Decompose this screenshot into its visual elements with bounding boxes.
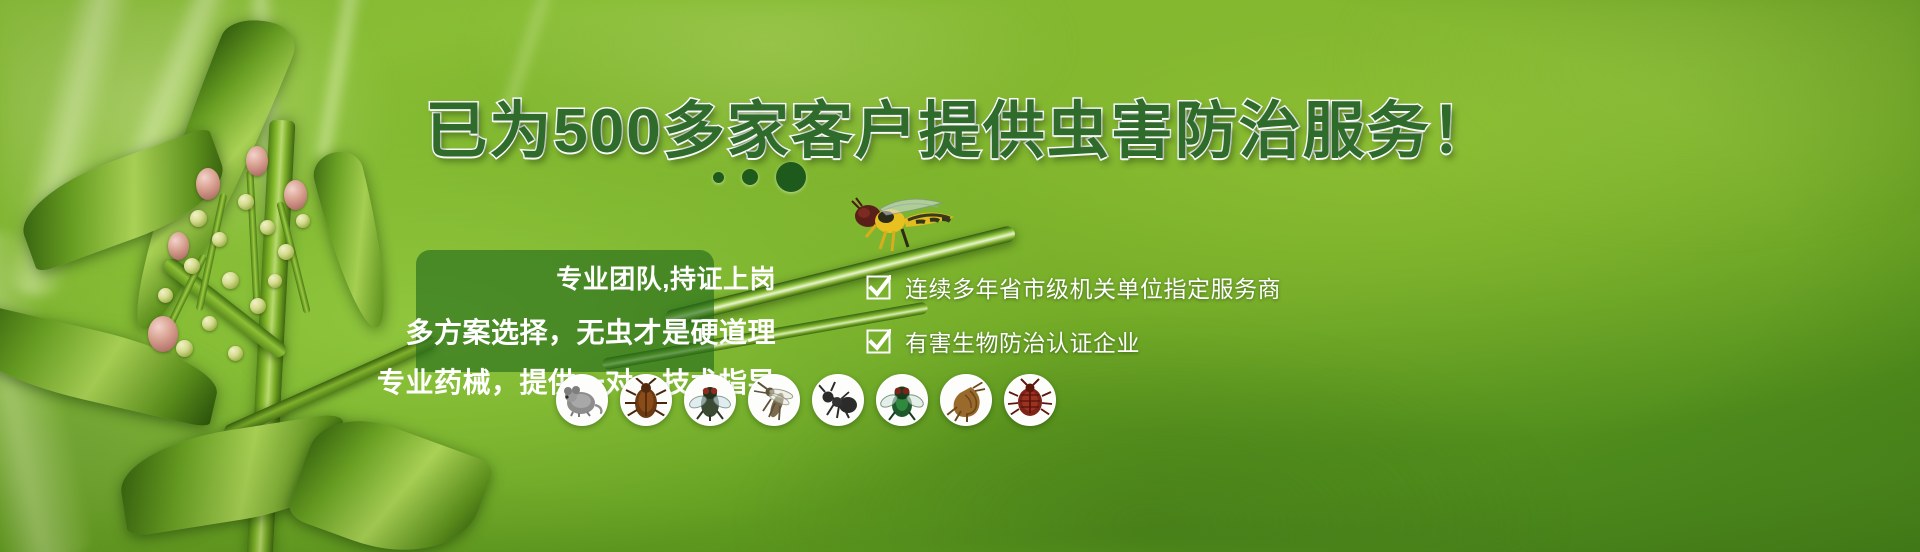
checkbox-checked-icon <box>866 329 891 354</box>
housefly-icon[interactable] <box>684 374 736 426</box>
page-title: 已为500多家客户提供虫害防治服务！ <box>0 80 1920 170</box>
ant-icon[interactable] <box>812 374 864 426</box>
mosquito-icon[interactable] <box>748 374 800 426</box>
dot-medium-icon <box>742 169 758 185</box>
list-item: 有害生物防治认证企业 <box>866 324 1326 358</box>
slogan-line-2: 多方案选择，无虫才是硬道理 <box>340 316 776 350</box>
checkbox-checked-icon <box>866 275 891 300</box>
list-item: 连续多年省市级机关单位指定服务商 <box>866 270 1326 304</box>
dot-small-icon <box>713 172 724 183</box>
rodent-icon[interactable] <box>556 374 608 426</box>
slogan-line-1: 专业团队,持证上岗 <box>340 264 776 294</box>
slogan-text-group: 专业团队,持证上岗 多方案选择，无虫才是硬道理 专业药械，提供一对一技术指导 <box>340 258 810 378</box>
pest-icon-row <box>556 374 1056 426</box>
credential-list: 连续多年省市级机关单位指定服务商 有害生物防治认证企业 <box>866 270 1326 378</box>
cockroach-icon[interactable] <box>620 374 672 426</box>
credential-label: 连续多年省市级机关单位指定服务商 <box>905 270 1281 304</box>
bedbug-icon[interactable] <box>1004 374 1056 426</box>
dot-large-icon <box>776 162 806 192</box>
promo-banner: 已为500多家客户提供虫害防治服务！ 专业团队,持证上岗 多方案选择，无虫才是硬… <box>0 0 1920 552</box>
credential-label: 有害生物防治认证企业 <box>905 324 1140 358</box>
flea-icon[interactable] <box>940 374 992 426</box>
hoverfly-illustration <box>846 197 966 259</box>
decorative-dots <box>713 160 833 194</box>
blowfly-icon[interactable] <box>876 374 928 426</box>
